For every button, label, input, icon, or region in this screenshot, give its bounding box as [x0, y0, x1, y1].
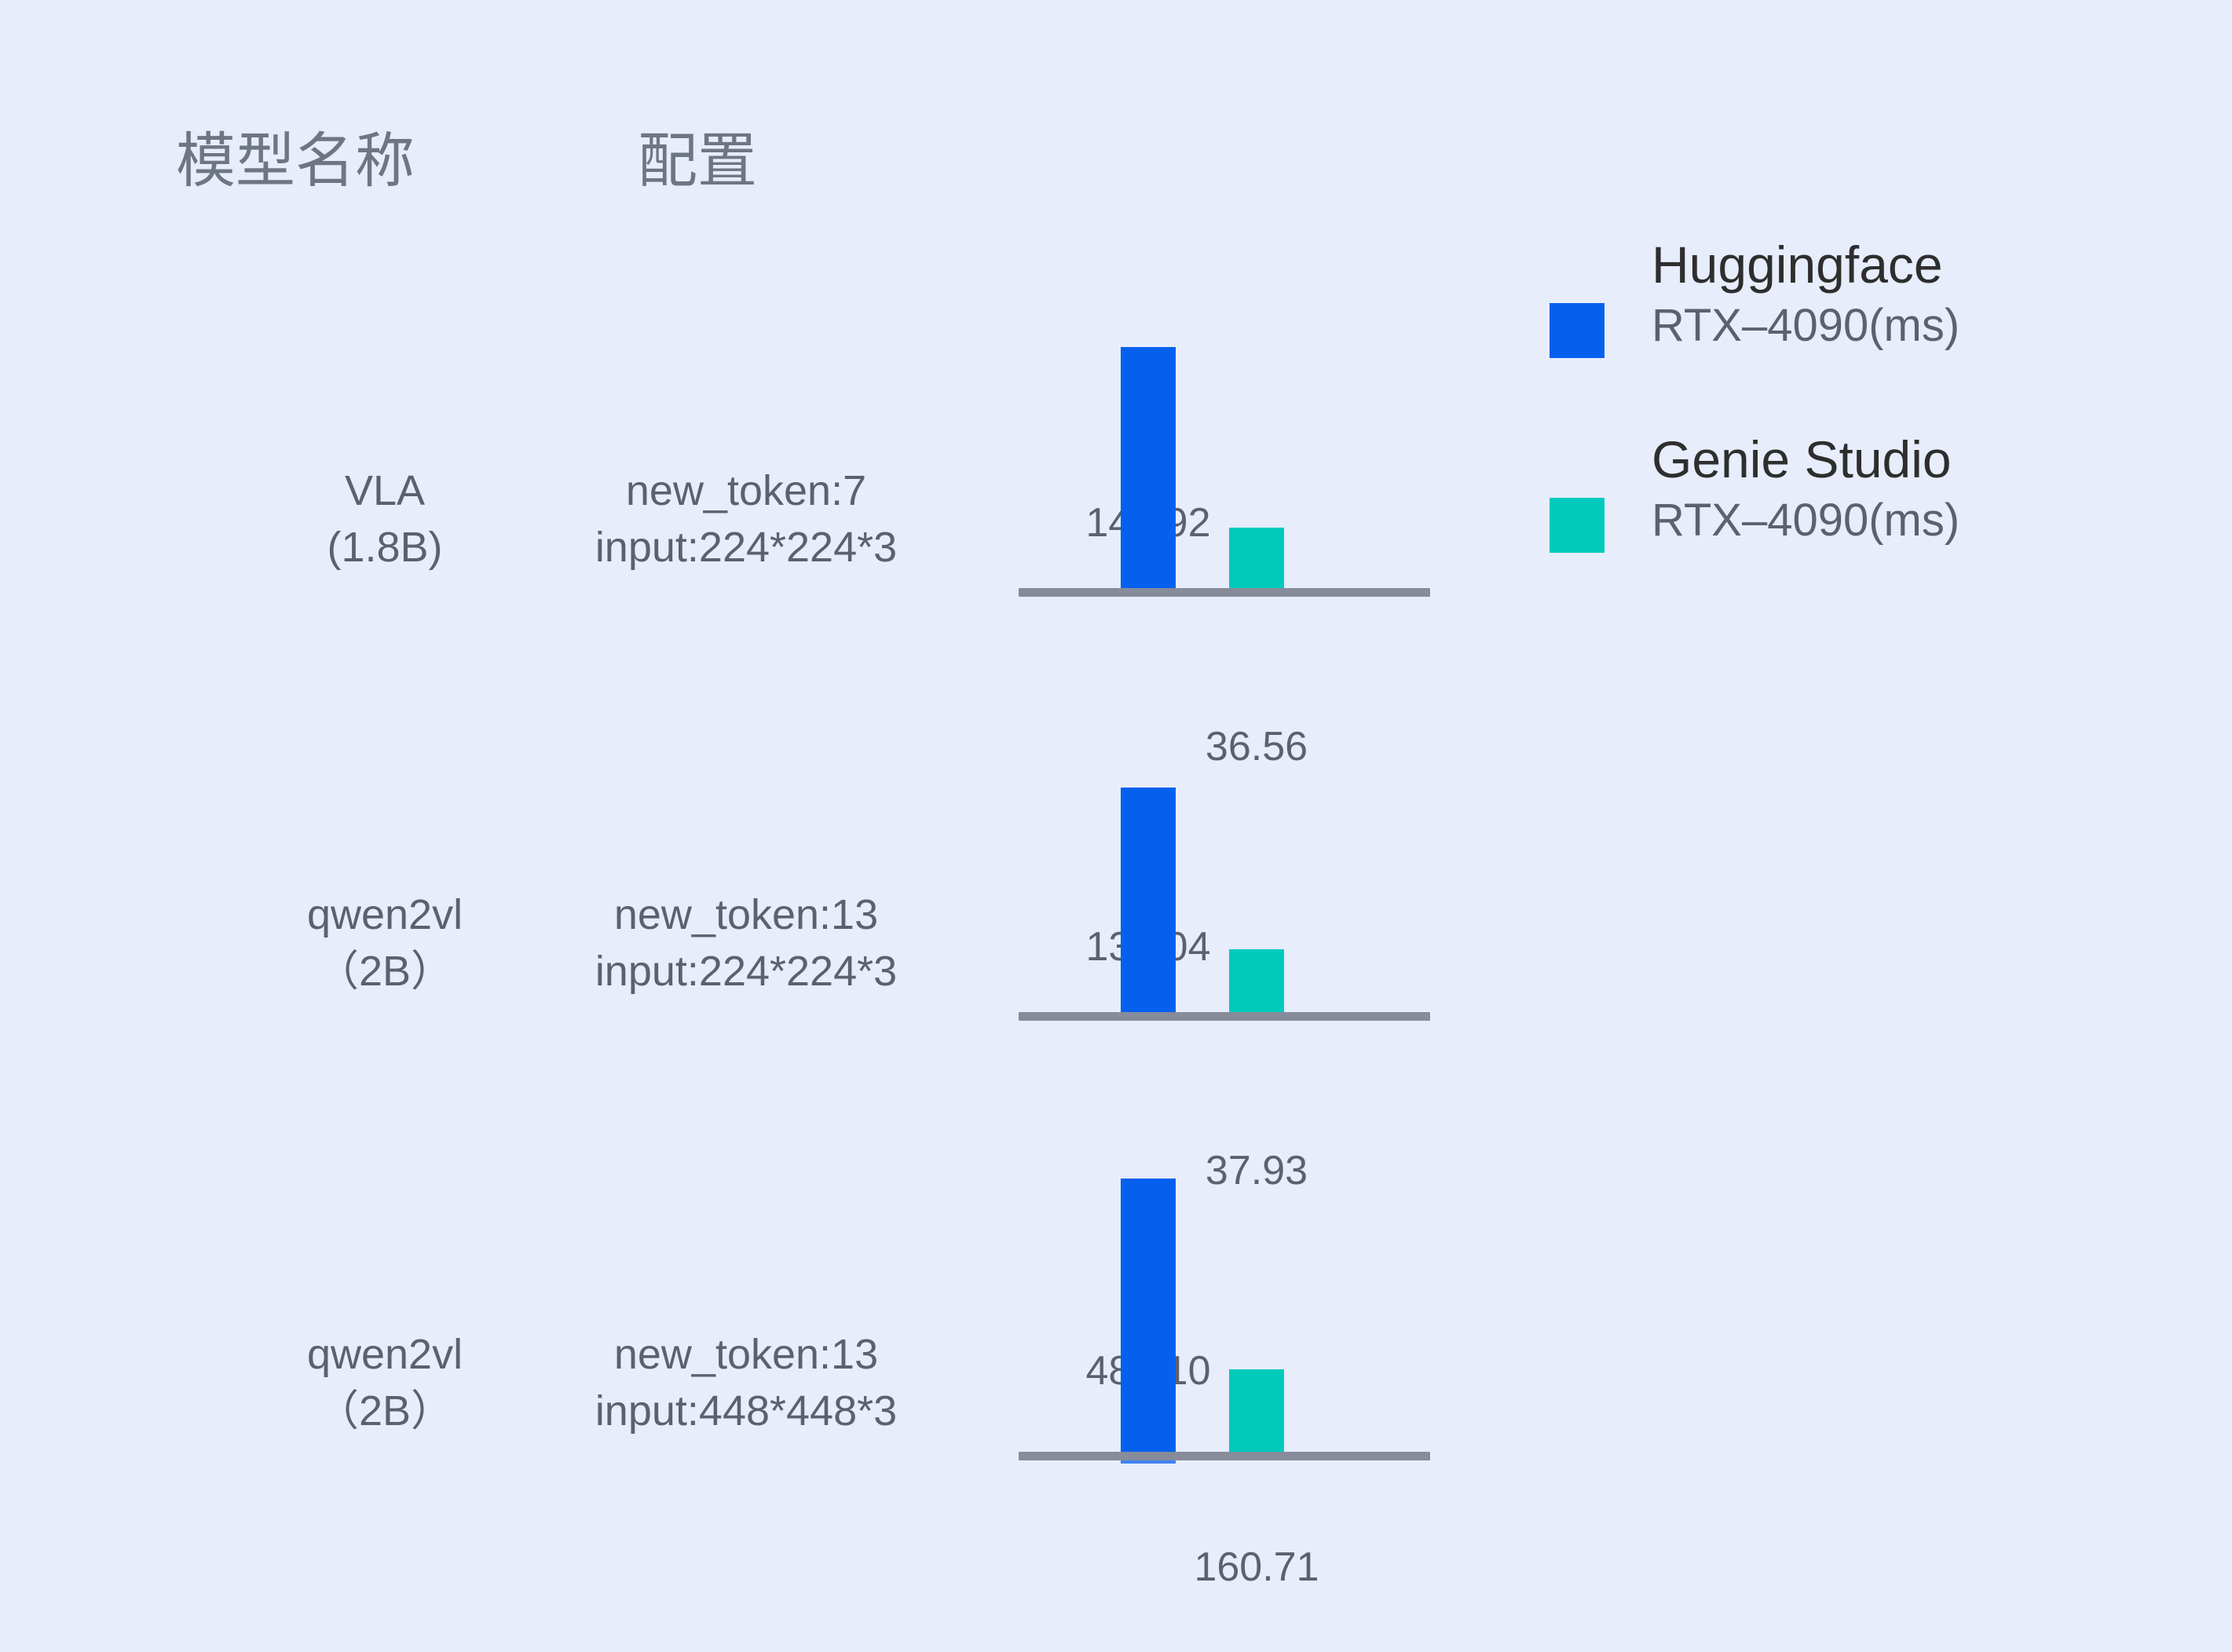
legend-title: Huggingface: [1652, 236, 2123, 295]
bar-huggingface: [1121, 1179, 1176, 1456]
bar-genie-studio: [1229, 1369, 1284, 1456]
legend-text-group: Genie Studio RTX–4090(ms): [1652, 430, 2123, 551]
bar-panel: 488.10 160.71: [1019, 1091, 1430, 1476]
config-line-1: new_token:13: [503, 1327, 990, 1383]
column-header-model-name: 模型名称: [176, 132, 415, 192]
legend-swatch-huggingface: [1550, 303, 1604, 358]
bar-genie-studio: [1229, 949, 1284, 1015]
row-config: new_token:7 input:224*224*3: [503, 463, 990, 576]
panel-baseline: [1019, 1452, 1430, 1460]
bar-genie-studio: [1229, 528, 1284, 591]
config-line-1: new_token:13: [503, 887, 990, 944]
legend-text-group: Huggingface RTX–4090(ms): [1652, 236, 2123, 356]
column-header-config: 配置: [638, 132, 757, 192]
legend-subtitle: RTX–4090(ms): [1652, 490, 2123, 551]
config-line-2: input:224*224*3: [503, 520, 990, 576]
bar-huggingface: [1121, 347, 1176, 591]
legend-title: Genie Studio: [1652, 430, 2123, 490]
panel-baseline: [1019, 1012, 1430, 1021]
bar-panel: 131.04 37.93: [1019, 660, 1430, 1029]
row-config: new_token:13 input:448*448*3: [503, 1327, 990, 1440]
bar-huggingface: [1121, 788, 1176, 1015]
row-config: new_token:13 input:224*224*3: [503, 887, 990, 1000]
config-line-2: input:224*224*3: [503, 944, 990, 1000]
config-line-1: new_token:7: [503, 463, 990, 520]
legend-subtitle: RTX–4090(ms): [1652, 295, 2123, 356]
panel-baseline: [1019, 588, 1430, 597]
chart-canvas: 模型名称 配置 VLA (1.8B) new_token:7 input:224…: [0, 0, 2232, 1652]
legend-swatch-genie-studio: [1550, 498, 1604, 553]
bar-value-label-genie-studio: 160.71: [1139, 1547, 1374, 1588]
config-line-2: input:448*448*3: [503, 1383, 990, 1440]
bar-panel: 141.92 36.56: [1019, 236, 1430, 605]
